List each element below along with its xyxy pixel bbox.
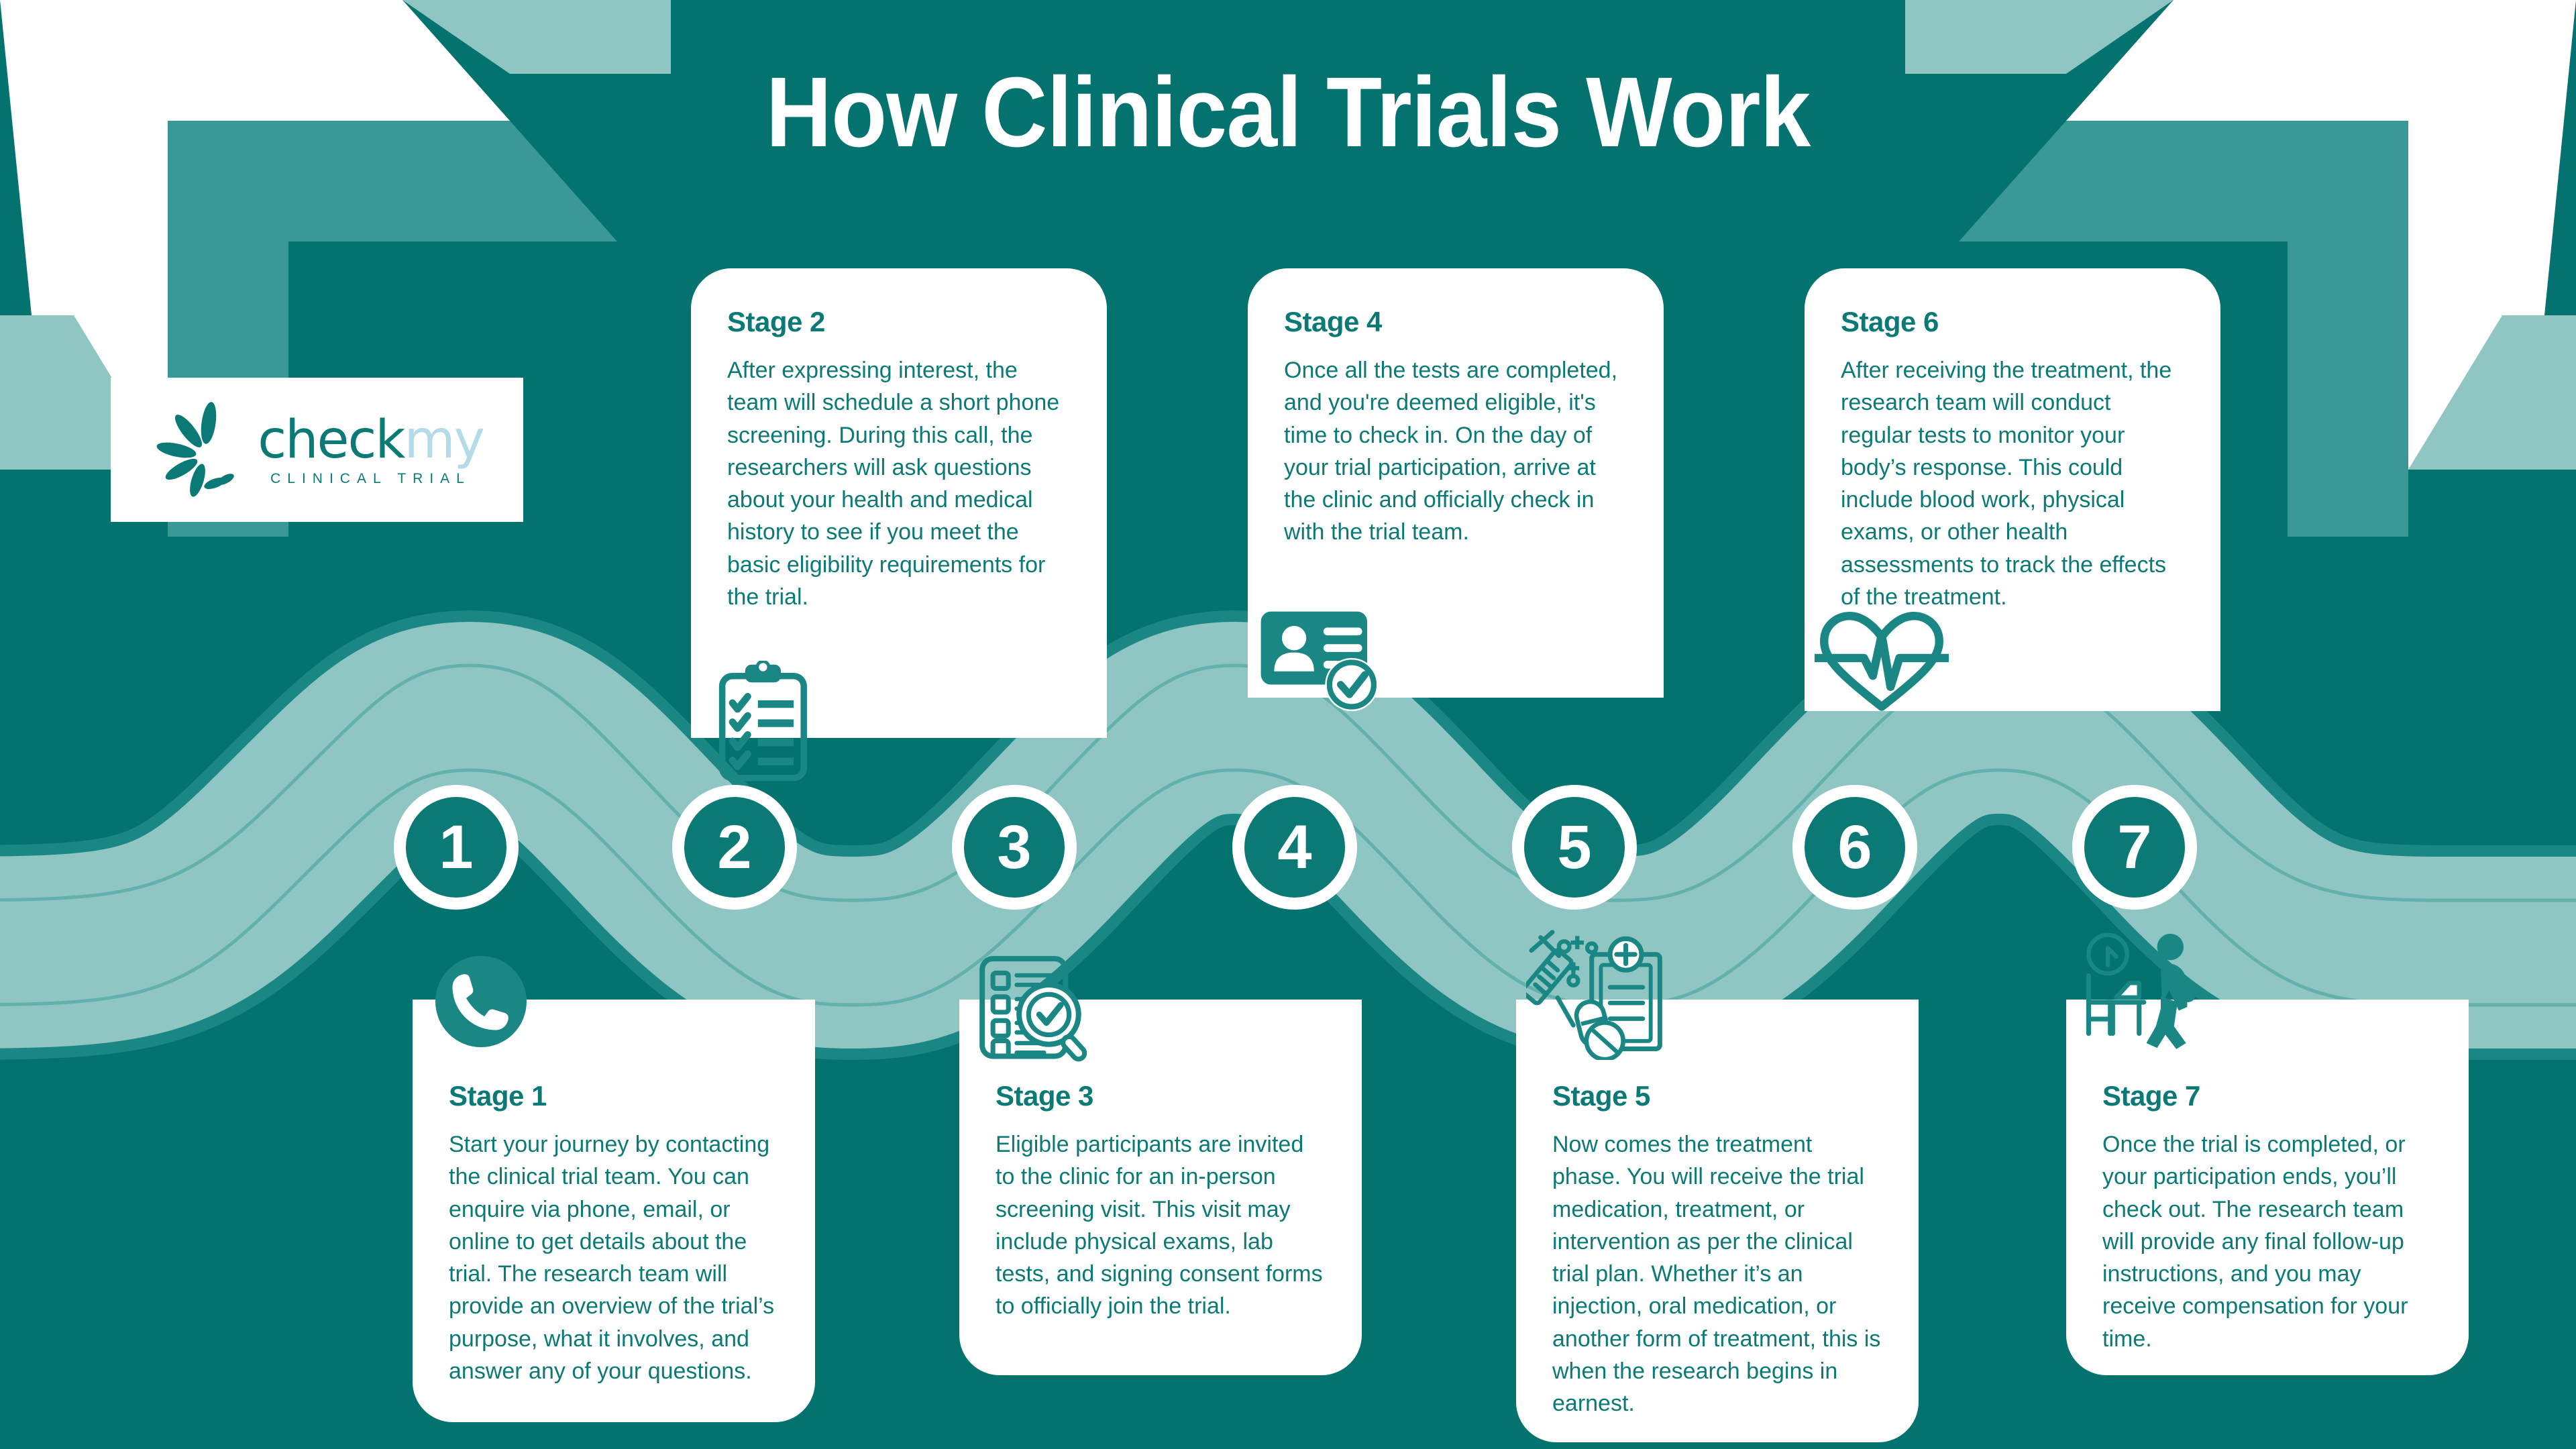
logo-word-my: my: [405, 410, 484, 470]
stage-1-body: Start your journey by contacting the cli…: [449, 1128, 779, 1387]
stage-card-5: Stage 5 Now comes the treatment phase. Y…: [1516, 1000, 1919, 1442]
logo-word-check: check: [258, 410, 404, 470]
stage-2-body: After expressing interest, the team will…: [727, 354, 1071, 613]
stage-7-label: Stage 7: [2102, 1080, 2432, 1112]
stage-number-5: 5: [1524, 797, 1625, 898]
person-leaving-desk-clock-icon: [2074, 926, 2218, 1050]
infographic-canvas: How Clinical Trials Work checkmy CLI: [0, 0, 2576, 1449]
leaf-mandala-icon: [150, 400, 251, 500]
stage-2-label: Stage 2: [727, 306, 1071, 338]
heart-pulse-icon: [1815, 607, 1949, 718]
stage-4-label: Stage 4: [1284, 306, 1627, 338]
document-magnifier-check-icon: [973, 946, 1104, 1067]
stage-5-label: Stage 5: [1552, 1080, 1882, 1112]
stage-number-4: 4: [1244, 797, 1345, 898]
stage-5-body: Now comes the treatment phase. You will …: [1552, 1128, 1882, 1419]
stage-number-1: 1: [406, 797, 506, 898]
stage-card-1: Stage 1 Start your journey by contacting…: [413, 1000, 815, 1422]
page-title: How Clinical Trials Work: [103, 60, 2473, 164]
stage-6-body: After receiving the treatment, the resea…: [1841, 354, 2184, 613]
stage-3-label: Stage 3: [996, 1080, 1326, 1112]
logo-subtitle: CLINICAL TRIAL: [258, 472, 484, 486]
stage-card-7: Stage 7 Once the trial is completed, or …: [2066, 1000, 2469, 1375]
phone-icon: [424, 945, 538, 1059]
brand-logo: checkmy CLINICAL TRIAL: [111, 378, 523, 522]
syringe-pills-chart-icon: [1526, 922, 1670, 1060]
stage-4-body: Once all the tests are completed, and yo…: [1284, 354, 1627, 549]
id-card-check-icon: [1256, 607, 1390, 718]
stage-6-label: Stage 6: [1841, 306, 2184, 338]
clipboard-checklist-icon: [704, 661, 832, 788]
stage-number-6: 6: [1805, 797, 1905, 898]
stage-number-2: 2: [684, 797, 785, 898]
stage-3-body: Eligible participants are invited to the…: [996, 1128, 1326, 1323]
stage-number-3: 3: [964, 797, 1065, 898]
stage-1-label: Stage 1: [449, 1080, 779, 1112]
stage-number-7: 7: [2084, 797, 2185, 898]
stage-7-body: Once the trial is completed, or your par…: [2102, 1128, 2432, 1355]
